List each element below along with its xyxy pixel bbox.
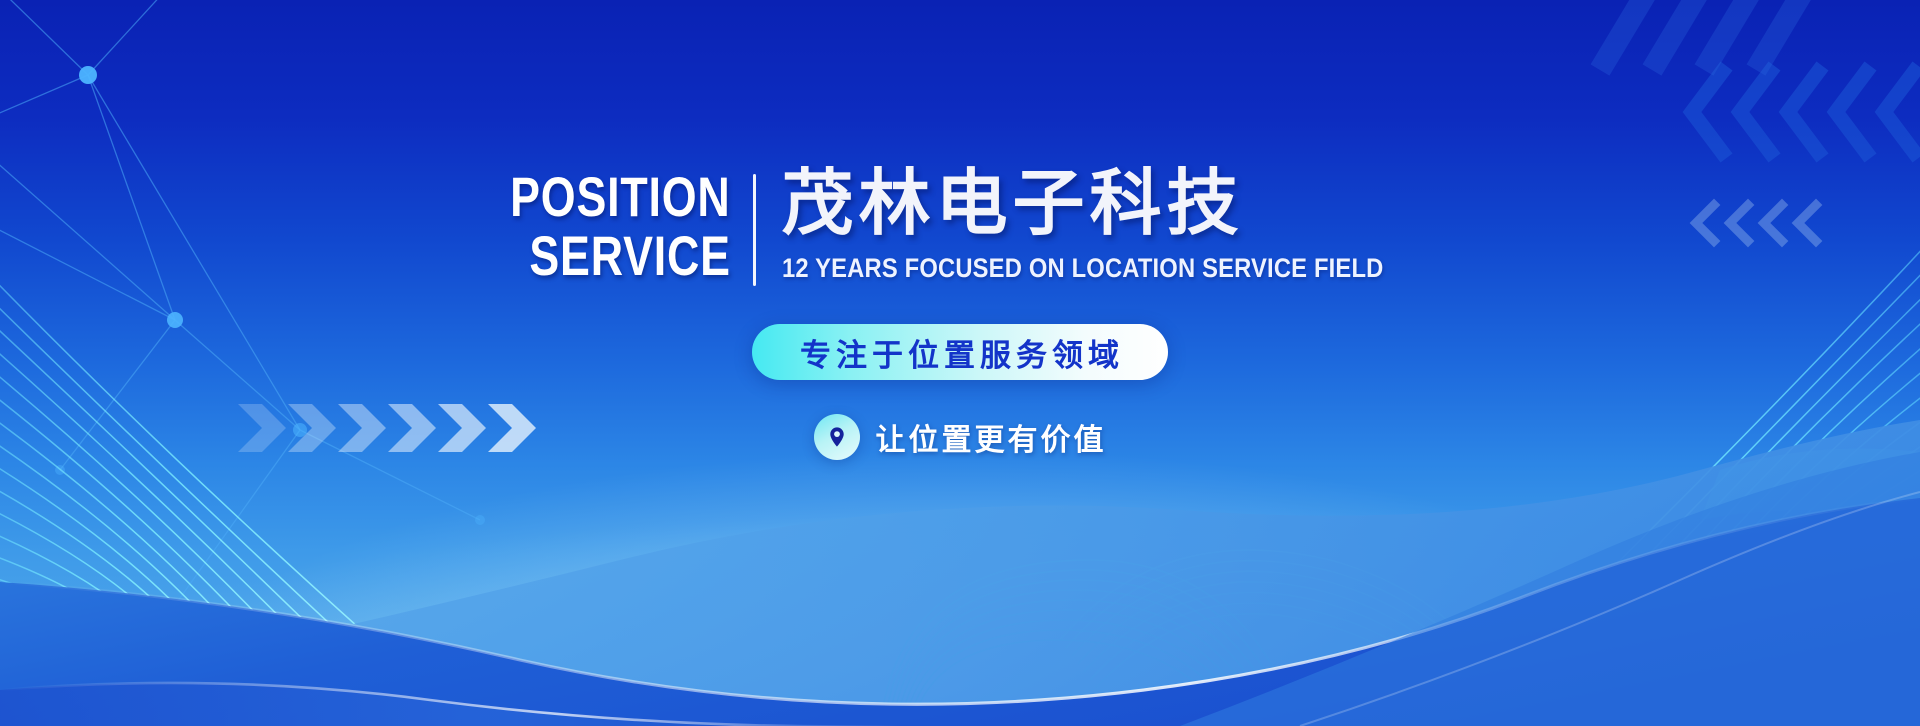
english-subtitle: 12 YEARS FOCUSED ON LOCATION SERVICE FIE… xyxy=(782,253,1383,284)
banner-content: POSITION SERVICE 茂林电子科技 12 YEARS FOCUSED… xyxy=(0,0,1920,726)
lockup-divider xyxy=(753,174,756,286)
tagline-label: 让位置更有价值 xyxy=(876,415,1107,459)
company-name-cn: 茂林电子科技 xyxy=(782,168,1244,241)
focus-pill-label: 专注于位置服务领域 xyxy=(796,330,1124,375)
location-pin-icon xyxy=(814,414,860,460)
tagline-row: 让位置更有价值 xyxy=(814,414,1107,460)
company-block: 茂林电子科技 12 YEARS FOCUSED ON LOCATION SERV… xyxy=(756,168,1466,284)
english-keyword-block: POSITION SERVICE xyxy=(455,168,753,282)
hero-banner: POSITION SERVICE 茂林电子科技 12 YEARS FOCUSED… xyxy=(0,0,1920,726)
keyword-service: SERVICE xyxy=(529,229,730,282)
brand-lockup: POSITION SERVICE 茂林电子科技 12 YEARS FOCUSED… xyxy=(455,168,1465,286)
focus-pill-badge: 专注于位置服务领域 xyxy=(752,324,1168,380)
keyword-position: POSITION xyxy=(510,170,730,223)
